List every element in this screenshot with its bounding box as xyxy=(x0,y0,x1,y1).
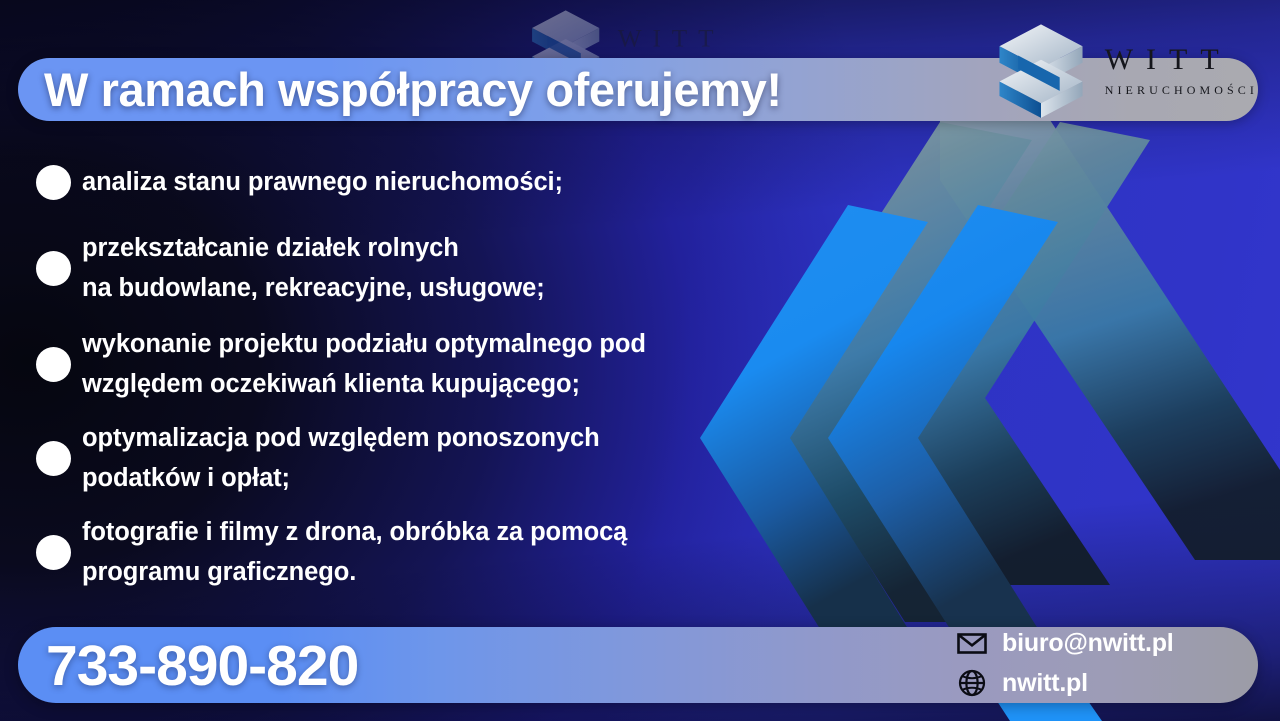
bullet-dot-icon xyxy=(36,535,71,570)
promotional-poster: WITT NIERUCHOMOŚCI W ramach współpracy o… xyxy=(0,0,1280,721)
offer-list: analiza stanu prawnego nieruchomości; pr… xyxy=(36,162,826,606)
list-item: fotografie i filmy z drona, obróbka za p… xyxy=(36,512,826,592)
bullet-dot-icon xyxy=(36,251,71,286)
list-item: optymalizacja pod względem ponoszonych p… xyxy=(36,418,826,498)
bullet-dot-icon xyxy=(36,347,71,382)
list-item: analiza stanu prawnego nieruchomości; xyxy=(36,162,826,202)
list-item-text: fotografie i filmy z drona, obróbka za p… xyxy=(82,512,627,592)
contact-website-row[interactable]: nwitt.pl xyxy=(955,664,1174,702)
contact-email-row[interactable]: biuro@nwitt.pl xyxy=(955,624,1174,662)
phone-number[interactable]: 733-890-820 xyxy=(46,629,358,703)
list-item-line: fotografie i filmy z drona, obróbka za p… xyxy=(82,512,627,552)
isometric-blocks-icon xyxy=(987,14,1095,127)
page-title: W ramach współpracy oferujemy! xyxy=(44,62,782,117)
list-item: wykonanie projektu podziału optymalnego … xyxy=(36,324,826,404)
email-address: biuro@nwitt.pl xyxy=(1002,629,1174,658)
list-item-line: na budowlane, rekreacyjne, usługowe; xyxy=(82,268,545,308)
list-item-text: wykonanie projektu podziału optymalnego … xyxy=(82,324,646,404)
logo-word: WITT xyxy=(618,26,747,51)
list-item-line: przekształcanie działek rolnych xyxy=(82,228,545,268)
list-item-line: wykonanie projektu podziału optymalnego … xyxy=(82,324,646,364)
list-item-text: optymalizacja pod względem ponoszonych p… xyxy=(82,418,600,498)
list-item-line: względem oczekiwań klienta kupującego; xyxy=(82,364,646,404)
logo-word: WITT xyxy=(1105,45,1258,75)
logo-subtitle: NIERUCHOMOŚCI xyxy=(1105,84,1258,96)
logo-primary: WITT NIERUCHOMOŚCI xyxy=(987,14,1258,127)
bullet-dot-icon xyxy=(36,441,71,476)
list-item-line: analiza stanu prawnego nieruchomości; xyxy=(82,162,563,202)
list-item-text: przekształcanie działek rolnych na budow… xyxy=(82,228,545,308)
contact-details: biuro@nwitt.pl nwitt.pl xyxy=(955,624,1174,702)
envelope-icon xyxy=(955,633,989,654)
logo-wordmark: WITT NIERUCHOMOŚCI xyxy=(1105,45,1258,96)
globe-icon xyxy=(955,669,989,697)
list-item-line: programu graficznego. xyxy=(82,552,627,592)
list-item-text: analiza stanu prawnego nieruchomości; xyxy=(82,162,563,202)
list-item-line: podatków i opłat; xyxy=(82,458,600,498)
list-item-line: optymalizacja pod względem ponoszonych xyxy=(82,418,600,458)
list-item: przekształcanie działek rolnych na budow… xyxy=(36,228,826,308)
bullet-dot-icon xyxy=(36,165,71,200)
website-address: nwitt.pl xyxy=(1002,669,1088,698)
